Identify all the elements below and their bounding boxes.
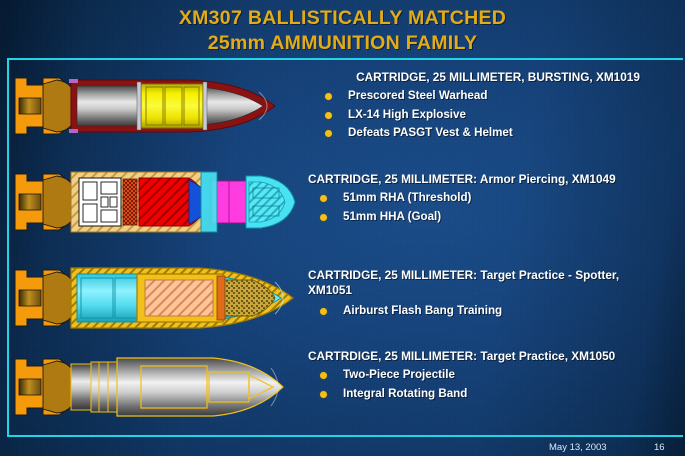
entry-text-xm1049: CARTRIDGE, 25 MILLIMETER: Armor Piercing… [308,172,683,226]
bullet-text: LX-14 High Explosive [348,108,466,121]
slide-canvas: XM307 BALLISTICALLY MATCHED 25mm AMMUNIT… [0,0,685,456]
bullet-item: LX-14 High Explosive [313,106,683,125]
entry-bullets-xm1019: Prescored Steel Warhead LX-14 High Explo… [313,87,683,143]
cartridge-illustration-xm1051 [13,262,298,334]
cartridge-illustration-xm1019 [13,70,298,142]
bullet-text: Airburst Flash Bang Training [343,304,502,317]
bullet-dot-icon [320,372,327,379]
bullet-item: Two-Piece Projectile [308,366,683,385]
slide-title: XM307 BALLISTICALLY MATCHED 25mm AMMUNIT… [0,6,685,56]
entry-text-xm1019: CARTRIDGE, 25 MILLIMETER, BURSTING, XM10… [313,70,683,143]
bullet-item: Prescored Steel Warhead [313,87,683,106]
bullet-dot-icon [320,214,327,221]
bullet-dot-icon [320,391,327,398]
bullet-text: Prescored Steel Warhead [348,89,487,102]
entry-heading-xm1019: CARTRIDGE, 25 MILLIMETER, BURSTING, XM10… [313,70,683,85]
entry-bullets-xm1051: Airburst Flash Bang Training [308,302,683,321]
bullet-text: Integral Rotating Band [343,387,467,400]
cartridge-illustration-xm1049 [13,166,298,238]
cartridge-illustration-xm1050 [13,352,298,422]
entry-bullets-xm1049: 51mm RHA (Threshold) 51mm HHA (Goal) [308,189,683,226]
title-line-2: 25mm AMMUNITION FAMILY [0,31,685,56]
bullet-item: Defeats PASGT Vest & Helmet [313,124,683,143]
bullet-dot-icon [325,112,332,119]
entry-bullets-xm1050: Two-Piece Projectile Integral Rotating B… [308,366,683,403]
entry-heading-xm1051: CARTRIDGE, 25 MILLIMETER: Target Practic… [308,268,683,298]
left-vertical-rule [7,58,9,437]
bullet-dot-icon [325,93,332,100]
bullet-item: Integral Rotating Band [308,385,683,404]
entry-text-xm1050: CARTRDIGE, 25 MILLIMETER: Target Practic… [308,349,683,403]
bullet-item: Airburst Flash Bang Training [308,302,683,321]
footer-date: May 13, 2003 [549,442,607,453]
bullet-dot-icon [325,130,332,137]
entry-text-xm1051: CARTRIDGE, 25 MILLIMETER: Target Practic… [308,268,683,321]
entry-heading-xm1050: CARTRDIGE, 25 MILLIMETER: Target Practic… [308,349,683,364]
bullet-item: 51mm RHA (Threshold) [308,189,683,208]
footer-page-number: 16 [654,442,665,453]
bullet-text: 51mm HHA (Goal) [343,210,441,223]
bullet-text: Two-Piece Projectile [343,368,455,381]
top-divider-rule [7,58,683,60]
entry-heading-xm1049: CARTRIDGE, 25 MILLIMETER: Armor Piercing… [308,172,683,187]
bullet-dot-icon [320,195,327,202]
bullet-text: Defeats PASGT Vest & Helmet [348,126,513,139]
bottom-divider-rule [7,435,683,437]
bullet-item: 51mm HHA (Goal) [308,208,683,227]
bullet-text: 51mm RHA (Threshold) [343,191,471,204]
bullet-dot-icon [320,308,327,315]
title-line-1: XM307 BALLISTICALLY MATCHED [0,6,685,31]
